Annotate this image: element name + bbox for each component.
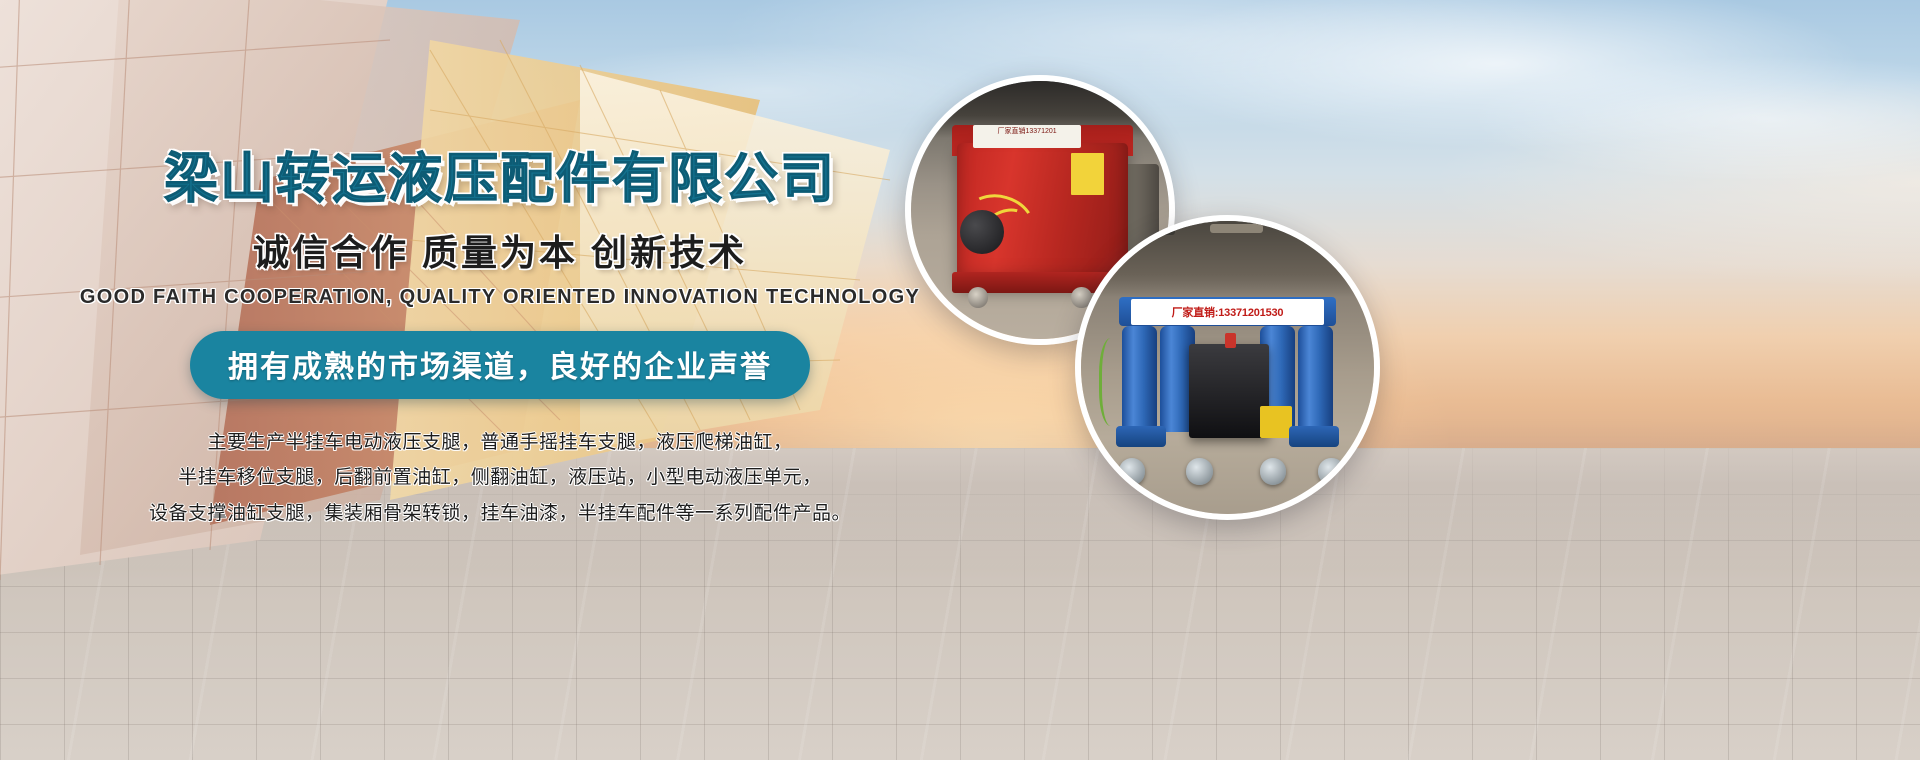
- hydraulic-pump-unit: [1189, 344, 1268, 438]
- wheel-4: [1318, 458, 1344, 484]
- page-title: 梁山转运液压配件有限公司: [0, 150, 1000, 208]
- manufacturer-phone-banner: 厂家直销:13371201530: [1131, 299, 1324, 325]
- background-object-c: [1298, 227, 1339, 235]
- yellow-component: [1260, 406, 1292, 438]
- wheel-3: [1260, 458, 1286, 484]
- yellow-warning-sticker: [1071, 153, 1105, 194]
- yard-background: [1081, 221, 1374, 297]
- description-line-2: 半挂车移位支腿，后翻前置油缸，侧翻油缸，液压站，小型电动液压单元，: [0, 460, 1000, 495]
- pump-control-knob: [1225, 333, 1236, 348]
- product-description: 主要生产半挂车电动液压支腿，普通手摇挂车支腿，液压爬梯油缸， 半挂车移位支腿，后…: [0, 425, 1000, 530]
- description-line-3: 设备支撑油缸支腿，集装厢骨架转锁，挂车油漆，半挂车配件等一系列配件产品。: [0, 496, 1000, 531]
- hydraulic-cylinder-4: [1298, 326, 1333, 431]
- slogan-chinese: 诚信合作 质量为本 创新技术: [0, 224, 1000, 276]
- support-foot-left: [1116, 426, 1166, 447]
- product-photo-blue-machine: 厂家直销:13371201530: [1075, 215, 1380, 520]
- wheel-2: [1186, 458, 1212, 484]
- slogan-english: GOOD FAITH COOPERATION, QUALITY ORIENTED…: [0, 286, 1000, 309]
- support-foot-right: [1289, 426, 1339, 447]
- description-line-1: 主要生产半挂车电动液压支腿，普通手摇挂车支腿，液压爬梯油缸，: [0, 425, 1000, 460]
- highlight-pill: 拥有成熟的市场渠道，良好的企业声誉: [190, 331, 810, 399]
- wheel-1: [1119, 458, 1145, 484]
- banner-stage: 梁山转运液压配件有限公司 诚信合作 质量为本 创新技术 GOOD FAITH C…: [0, 0, 1920, 760]
- red-machine-label: 厂家直销13371201: [973, 125, 1081, 148]
- background-object-a: [1110, 226, 1174, 236]
- electric-motor: [960, 210, 1004, 254]
- hydraulic-cylinder-1: [1122, 326, 1157, 431]
- caster-wheel-left: [968, 287, 989, 308]
- banner-copy-block: 梁山转运液压配件有限公司 诚信合作 质量为本 创新技术 GOOD FAITH C…: [0, 150, 1000, 531]
- blue-machine-scene: 厂家直销:13371201530: [1081, 221, 1374, 514]
- background-object-b: [1210, 224, 1263, 233]
- phone-banner-text: 厂家直销:13371201530: [1172, 304, 1284, 320]
